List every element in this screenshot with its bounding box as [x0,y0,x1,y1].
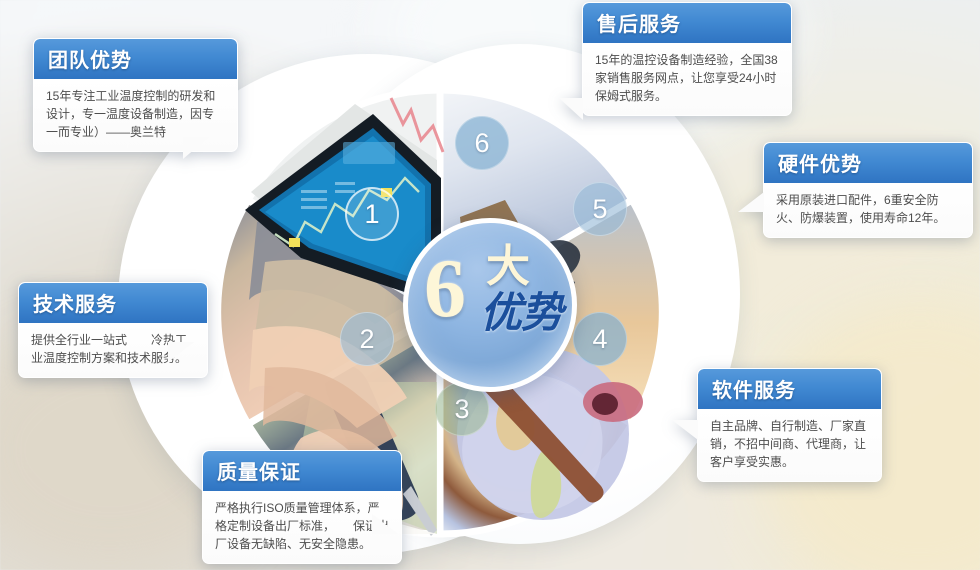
callout-quality-card: 质量保证 严格执行ISO质量管理体系，严格定制设备出厂标准， 保证出厂设备无缺陷… [202,450,402,564]
callout-quality-title: 质量保证 [203,451,401,491]
callout-team-card: 团队优势 15年专注工业温度控制的研发和设计，专一温度设备制造，因专一而专业）—… [33,38,238,152]
callout-technical-title: 技术服务 [19,283,207,323]
segment-number-4[interactable]: 4 [573,312,627,366]
segment-1-marker-low [289,238,300,247]
callout-after-sales-body: 15年的温控设备制造经验，全国38家销售服务网点，让您享受24小时保姆式服务。 [583,43,791,115]
callout-software-card: 软件服务 自主品牌、自行制造、厂家直销，不招中间商、代理商，让客户享受实惠。 [697,368,882,482]
segment-number-1[interactable]: 1 [345,187,399,241]
callout-quality-pointer [372,514,398,534]
callout-software-service[interactable]: 软件服务 自主品牌、自行制造、厂家直销，不招中间商、代理商，让客户享受实惠。 [697,368,882,482]
callout-quality-assurance[interactable]: 质量保证 严格执行ISO质量管理体系，严格定制设备出厂标准， 保证出厂设备无缺陷… [202,450,402,564]
callout-hardware-body: 采用原装进口配件，6重安全防火、防爆装置，使用寿命12年。 [764,183,972,237]
segment-1-screen-panel [343,142,395,164]
callout-technical-pointer [168,342,194,362]
callout-technical-service[interactable]: 技术服务 提供全行业一站式 冷热工业温度控制方案和技术服务。 [18,282,208,378]
callout-after-sales-title: 售后服务 [583,3,791,43]
infographic-canvas: 1 2 3 4 5 6 6 大 优势 团队优势 15年专注工业温度控制的研发和设… [0,0,980,570]
callout-hardware-card: 硬件优势 采用原装进口配件，6重安全防火、防爆装置，使用寿命12年。 [763,142,973,238]
center-number: 6 [424,247,466,331]
segment-number-2[interactable]: 2 [340,312,394,366]
callout-team-pointer [183,137,209,159]
callout-hardware-title: 硬件优势 [764,143,972,183]
callout-team-title: 团队优势 [34,39,237,79]
segment-number-5[interactable]: 5 [573,182,627,236]
callout-after-sales-card: 售后服务 15年的温控设备制造经验，全国38家销售服务网点，让您享受24小时保姆… [582,2,792,116]
callout-hardware-advantage[interactable]: 硬件优势 采用原装进口配件，6重安全防火、防爆装置，使用寿命12年。 [763,142,973,238]
callout-technical-card: 技术服务 提供全行业一站式 冷热工业温度控制方案和技术服务。 [18,282,208,378]
segment-4-lens [592,393,618,415]
callout-after-sales-pointer [559,98,583,120]
callout-team-advantage[interactable]: 团队优势 15年专注工业温度控制的研发和设计，专一温度设备制造，因专一而专业）—… [33,38,238,152]
callout-software-body: 自主品牌、自行制造、厂家直销，不招中间商、代理商，让客户享受实惠。 [698,409,881,481]
callout-hardware-pointer [738,192,764,212]
segment-number-6[interactable]: 6 [455,116,509,170]
callout-after-sales[interactable]: 售后服务 15年的温控设备制造经验，全国38家销售服务网点，让您享受24小时保姆… [582,2,792,116]
callout-software-pointer [672,420,698,440]
center-medallion[interactable]: 6 大 优势 [403,218,577,392]
center-unit-label: 大 [486,245,530,289]
callout-software-title: 软件服务 [698,369,881,409]
center-word-label: 优势 [480,291,562,335]
